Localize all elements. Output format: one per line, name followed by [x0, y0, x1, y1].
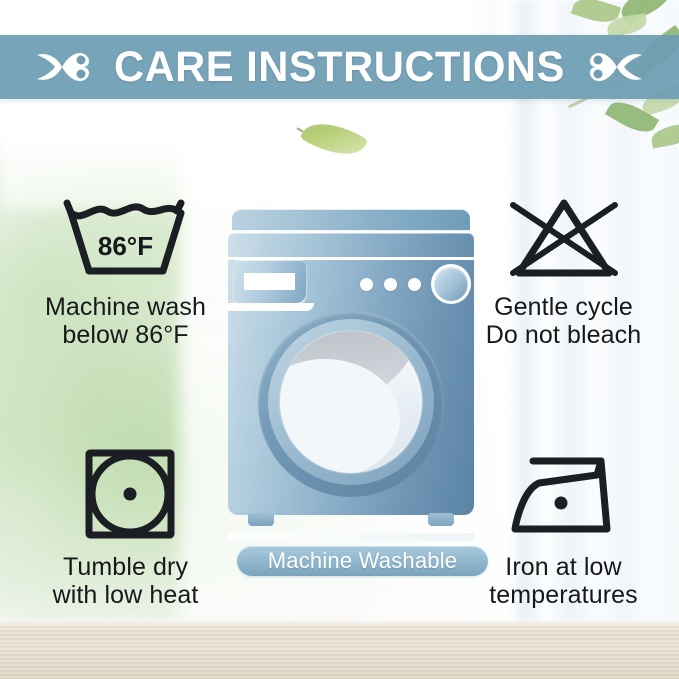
washing-machine-door: [258, 311, 444, 497]
wooden-table-surface: [0, 624, 679, 679]
instruction-machine-wash: 86°F Machine wash below 86°F: [18, 193, 233, 349]
detergent-drawer-slot: [244, 273, 295, 290]
instruction-do-not-bleach: Gentle cycle Do not bleach: [456, 193, 671, 349]
no-bleach-triangle-icon: [489, 193, 639, 283]
washing-machine-icon: [228, 209, 474, 529]
instruction-tumble-dry: Tumble dry with low heat: [18, 445, 233, 609]
instruction-label-do-not-bleach: Gentle cycle Do not bleach: [456, 293, 671, 349]
washing-machine-lid: [232, 209, 470, 231]
fleur-de-lis-icon-right: [588, 44, 646, 90]
detergent-drawer: [234, 260, 306, 303]
door-ring: [268, 319, 434, 485]
machine-washable-badge-label: Machine Washable: [268, 548, 457, 574]
machine-washable-badge: Machine Washable: [237, 546, 488, 576]
control-indicator-2: [384, 278, 397, 291]
header-banner: CARE INSTRUCTIONS: [0, 35, 679, 99]
wash-tub-icon: 86°F: [51, 193, 201, 283]
door-glass: [280, 331, 422, 473]
wash-temperature-value: 86°F: [51, 231, 201, 262]
infographic-canvas: CARE INSTRUCTIONS 86°F Machine wash belo…: [0, 0, 679, 679]
page-title: CARE INSTRUCTIONS: [114, 46, 565, 89]
instruction-label-tumble-dry: Tumble dry with low heat: [18, 553, 233, 609]
washing-machine-foot-left: [248, 513, 274, 526]
instruction-iron-low: Iron at low temperatures: [456, 445, 671, 609]
washing-machine-base-highlight: [228, 533, 474, 541]
washing-machine-foot-right: [428, 513, 454, 526]
iron-low-icon: [489, 445, 639, 543]
detergent-drawer-shadow: [228, 303, 314, 311]
fleur-de-lis-icon-left: [33, 44, 91, 90]
control-indicator-3: [408, 278, 421, 291]
instruction-label-machine-wash: Machine wash below 86°F: [18, 293, 233, 349]
control-indicator-1: [360, 278, 373, 291]
program-dial: [434, 267, 468, 301]
washing-machine-body: [228, 233, 474, 515]
instruction-label-iron-low: Iron at low temperatures: [456, 553, 671, 609]
tumble-dry-low-icon: [51, 445, 201, 543]
